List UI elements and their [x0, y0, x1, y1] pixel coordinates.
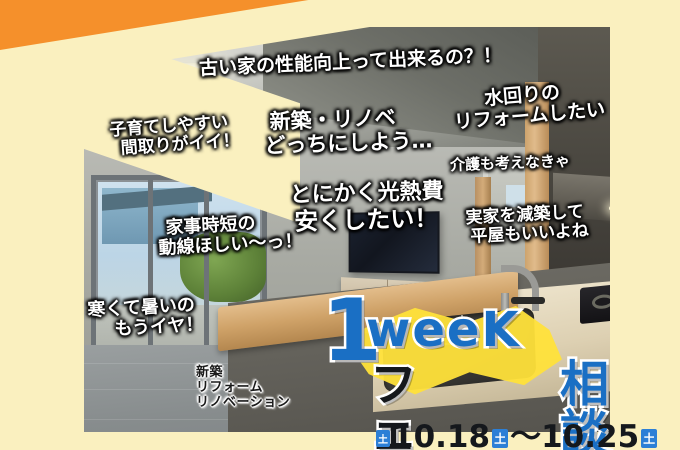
date-start-dow-badge-2: 土	[492, 429, 508, 448]
date-end: 10.25	[541, 419, 639, 450]
poster-canvas: 一社) 住宅 住まい革命 古い家の性能向上って出来るの？！ 子育てしやすい 間取…	[0, 0, 680, 450]
logo-week-text: weeK	[366, 306, 521, 354]
bubble-jikka-gensiku: 実家を減築して 平屋もいいよね	[465, 203, 589, 247]
date-start-dow-badge: 土	[376, 430, 390, 447]
bubble-shinchiku-renove: 新築・リノベ どっちにしよう…	[269, 105, 433, 158]
bubble-kounetsuhi-line2: 安くしたい！	[294, 205, 445, 236]
category-item-2: リノベーション	[196, 395, 290, 410]
date-end-dow-badge: 土	[641, 429, 657, 448]
bubble-kajijitan: 家事時短の 動線ほしい〜っ！	[165, 211, 303, 258]
event-date-range: 土10.18土〜10.25土	[374, 411, 659, 450]
category-item-1: リフォーム	[196, 380, 290, 395]
logo-zone: 新築 リフォーム リノベーション 1週間 1 weeK フェス 相談会	[0, 300, 680, 450]
bubble-kounetsuhi: とにかく光熱費 安くしたい！	[289, 180, 444, 236]
window-house-roof	[102, 185, 212, 211]
category-item-0: 新築	[196, 365, 290, 380]
category-list: 新築 リフォーム リノベーション	[196, 365, 290, 410]
date-separator: 〜	[510, 419, 541, 450]
date-start: 10.18	[392, 419, 490, 450]
